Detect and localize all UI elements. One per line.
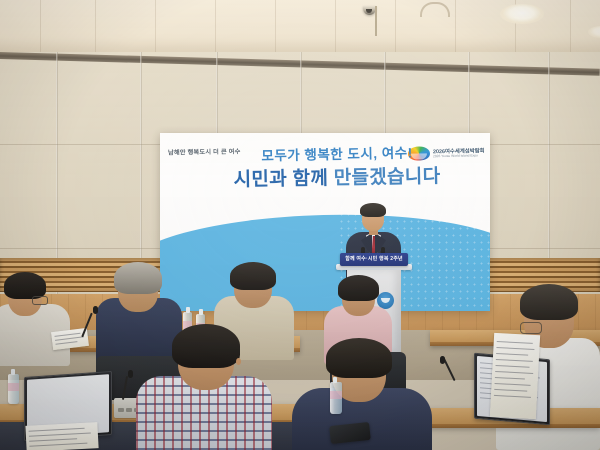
attendee-check-shirt — [136, 324, 272, 450]
attendee-hair — [230, 262, 276, 290]
banner-subheadline-strong: 시민과 함께 — [233, 168, 328, 191]
attendee-hair — [326, 338, 392, 378]
attendee-glasses-icon — [520, 322, 542, 334]
speaker-hair — [360, 203, 386, 217]
attendee-hair — [172, 324, 240, 368]
microphone-head — [93, 306, 98, 314]
ceiling-hook-icon — [420, 2, 450, 17]
banner-subheadline-light: 만들겠습니다 — [328, 166, 441, 189]
attendee-hair — [338, 275, 379, 301]
water-bottle — [330, 382, 342, 414]
microphone-head — [128, 370, 133, 378]
banner-subheadline: 시민과 함께 만들겠습니다 — [212, 161, 462, 192]
podium-sign-text: 함께 여수·시민 행복 2주년 — [340, 255, 408, 262]
attendee-hair-gray — [114, 262, 162, 294]
ceiling-downlight — [500, 4, 544, 24]
water-bottle — [8, 374, 19, 404]
document-paper — [25, 422, 98, 450]
press-briefing-photo: 남해안 행복도시 더 큰 여수 2026여수세계섬박람회 2026 Yeosu … — [0, 0, 600, 450]
document-paper-held — [490, 333, 540, 419]
attendee-hair — [520, 284, 578, 320]
microphone-head — [440, 356, 445, 364]
camera-stem — [375, 6, 377, 36]
podium-sign: 함께 여수·시민 행복 2주년 — [340, 253, 408, 266]
attendee-glasses-icon — [32, 296, 48, 305]
attendee-ear — [236, 358, 241, 365]
attendee-hair — [4, 272, 46, 299]
